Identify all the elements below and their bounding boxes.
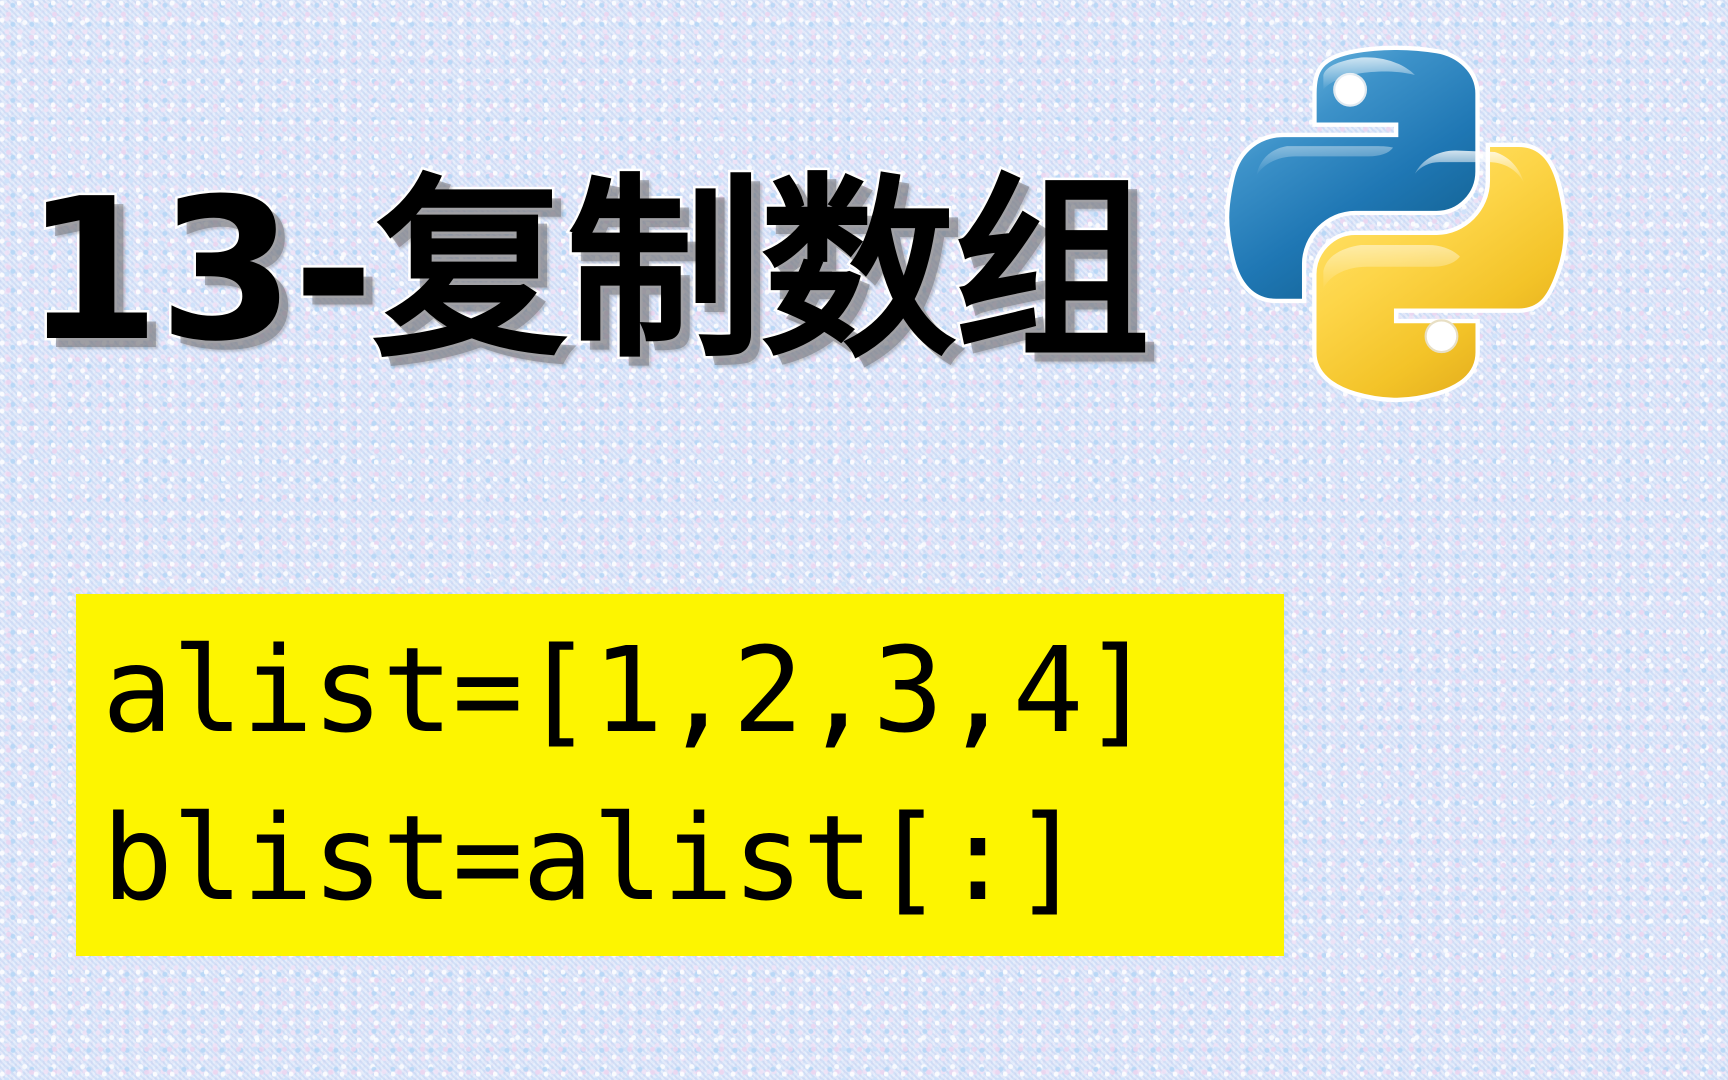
code-block: alist=[1,2,3,4] blist=alist[:] xyxy=(76,594,1284,956)
thumbnail-canvas: 13-复制数组 xyxy=(0,0,1728,1080)
python-logo xyxy=(1210,22,1582,404)
code-line-2: blist=alist[:] xyxy=(102,775,1284,943)
title-text: 13-复制数组 xyxy=(24,172,1148,372)
code-line-1: alist=[1,2,3,4] xyxy=(102,607,1284,775)
python-logo-yellow-eye xyxy=(1426,320,1458,352)
page-title: 13-复制数组 xyxy=(24,152,1224,392)
